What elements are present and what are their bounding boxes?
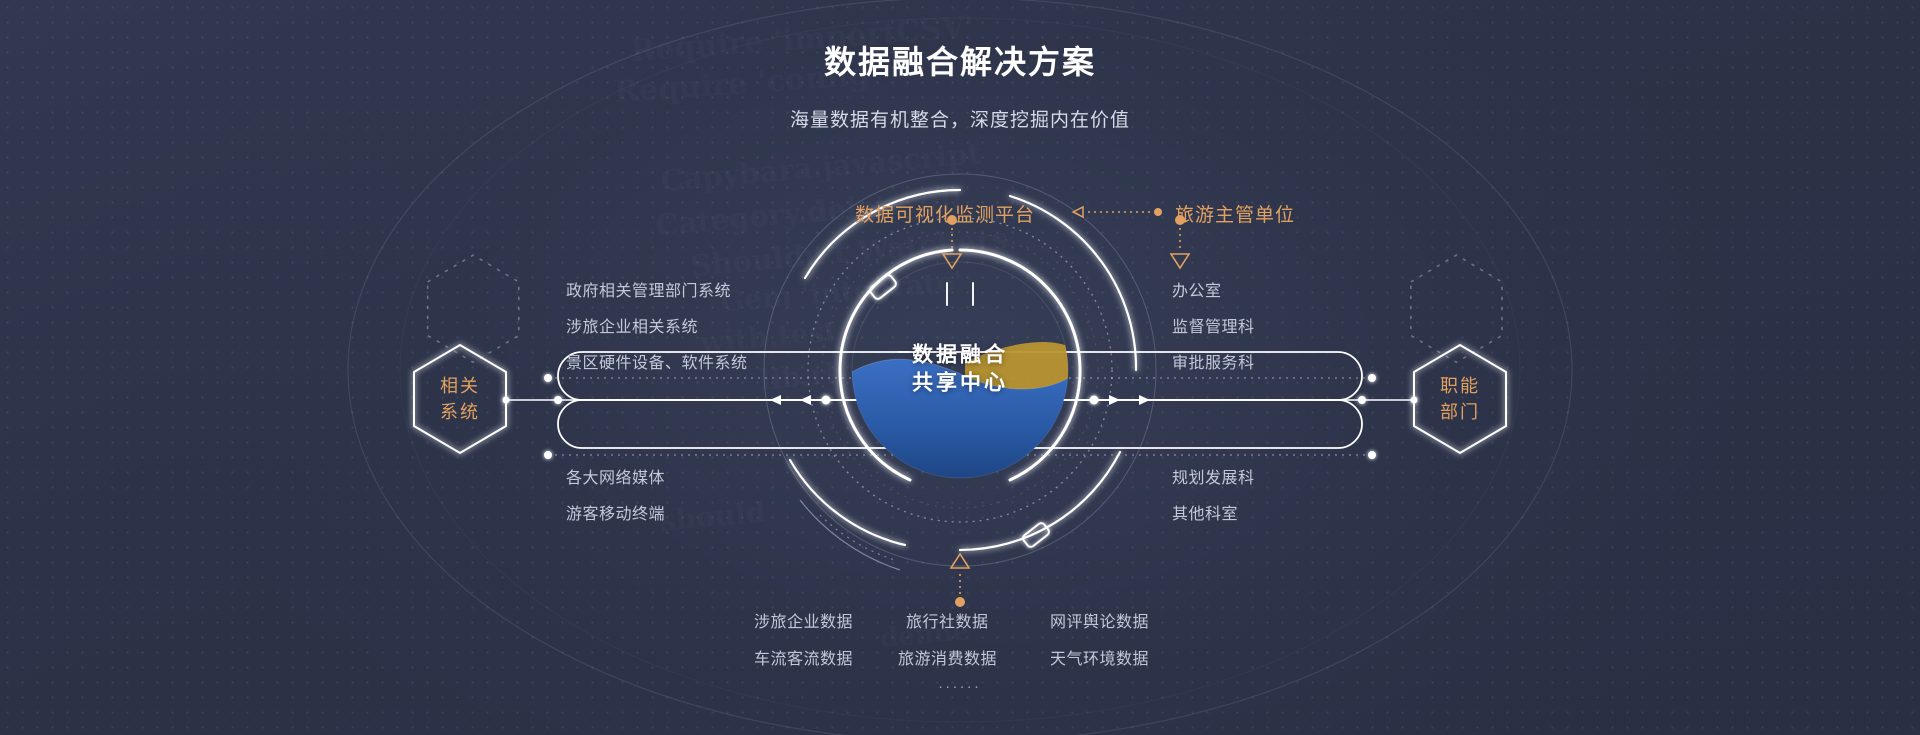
infographic-canvas: Require 'importCSV' Require 'config' Cap… <box>0 0 1920 735</box>
center-hub-label: 数据融合 共享中心 <box>912 342 1008 399</box>
left-item-scenic-hardware-software[interactable]: 景区硬件设备、软件系统 <box>566 349 748 373</box>
left-item-tourism-enterprise-systems[interactable]: 涉旅企业相关系统 <box>566 313 698 337</box>
left-hexagon-line2: 系统 <box>440 399 480 425</box>
outer-arc-bl <box>790 460 905 545</box>
code-line: should <box>659 495 767 537</box>
left-arrow-1 <box>770 395 781 405</box>
right-bracket-lower <box>898 400 1362 448</box>
center-hub-line1: 数据融合 <box>912 342 1008 370</box>
top-left-triangle-down <box>943 254 961 268</box>
code-line: lib.rb <box>759 356 846 396</box>
code-line: Capybara.javascript <box>659 136 982 198</box>
left-upper-node <box>544 374 552 382</box>
right-axis-node <box>1358 396 1366 404</box>
bottom-item-enterprise-data[interactable]: 涉旅企业数据 <box>754 608 853 632</box>
right-arrow-2 <box>1109 395 1120 405</box>
left-arrow-2 <box>800 395 811 405</box>
label-tourism-authority[interactable]: 旅游主管单位 <box>1175 200 1295 227</box>
bottom-triangle-up <box>951 554 969 568</box>
bottom-item-traffic-flow-data[interactable]: 车流客流数据 <box>754 645 853 669</box>
page-subtitle: 海量数据有机整合，深度挖掘内在价值 <box>0 105 1920 132</box>
ring-node-bottom-right <box>1021 521 1050 548</box>
right-item-approval-service-dept[interactable]: 审批服务科 <box>1172 349 1255 373</box>
bottom-ellipsis: ...... <box>0 675 1920 692</box>
top-right-triangle-down <box>1171 254 1189 268</box>
bottom-orange-dot <box>955 597 965 607</box>
right-item-supervision-dept[interactable]: 监督管理科 <box>1172 313 1255 337</box>
bottom-item-weather-environment-data[interactable]: 天气环境数据 <box>1050 645 1149 669</box>
right-upper-node <box>1368 374 1376 382</box>
right-arrow-1 <box>1139 395 1150 405</box>
label-visualization-platform[interactable]: 数据可视化监测平台 <box>855 200 1035 227</box>
left-lower-node <box>544 451 552 459</box>
top-connector-dot <box>1154 208 1162 216</box>
inner-ring-br <box>1010 370 1080 480</box>
right-item-planning-dept[interactable]: 规划发展科 <box>1172 464 1255 488</box>
right-item-other-depts[interactable]: 其他科室 <box>1172 500 1238 524</box>
left-bracket-lower <box>558 400 1022 448</box>
bottom-item-online-review-data[interactable]: 网评舆论数据 <box>1050 608 1149 632</box>
right-hexagon-line1: 职能 <box>1440 373 1480 399</box>
right-item-office[interactable]: 办公室 <box>1172 277 1222 301</box>
inner-ring-bl <box>840 370 910 480</box>
left-arrow-node <box>822 396 831 405</box>
outer-arc-br <box>960 452 1120 550</box>
left-item-tourist-mobile-terminal[interactable]: 游客移动终端 <box>566 500 665 524</box>
right-hexagon-line2: 部门 <box>1440 399 1480 425</box>
code-line: Gem 'integrate' <box>719 264 964 318</box>
right-hexagon-node[interactable]: 职能 部门 <box>1392 337 1528 461</box>
left-axis-node <box>554 396 562 404</box>
left-hexagon-line1: 相关 <box>440 373 480 399</box>
left-item-network-media[interactable]: 各大网络媒体 <box>566 464 665 488</box>
center-hub-line2: 共享中心 <box>912 370 1008 398</box>
ring-node-top-left <box>868 273 897 300</box>
left-hexagon-node[interactable]: 相关 系统 <box>392 337 528 461</box>
right-arrow-node <box>1090 396 1099 405</box>
bottom-item-tourism-consumption-data[interactable]: 旅游消费数据 <box>898 645 997 669</box>
code-line: Shouldn't Watchers <box>689 221 1009 283</box>
page-title: 数据融合解决方案 <box>0 37 1920 83</box>
bottom-item-travel-agency-data[interactable]: 旅行社数据 <box>906 608 989 632</box>
right-lower-node <box>1368 451 1376 459</box>
top-arrow-left <box>1073 207 1083 217</box>
left-item-government-systems[interactable]: 政府相关管理部门系统 <box>566 277 731 301</box>
